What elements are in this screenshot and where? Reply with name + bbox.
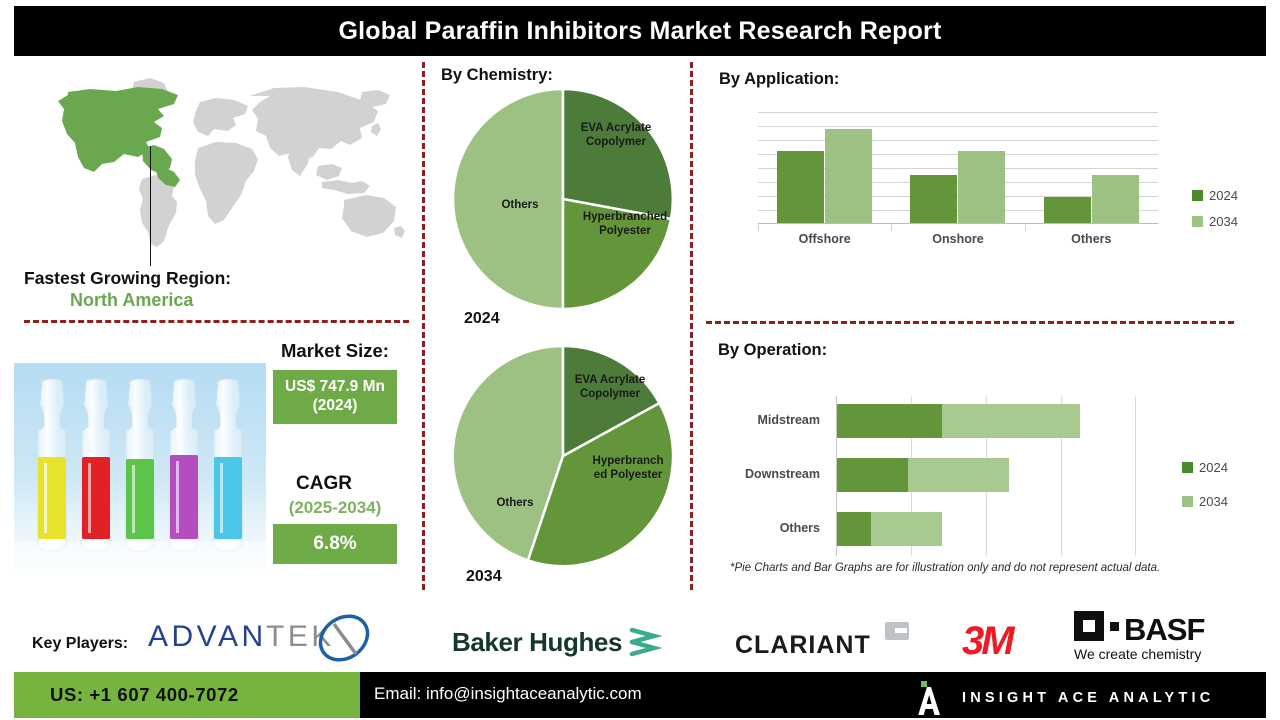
footer-brand: INSIGHT ACE ANALYTIC	[918, 681, 1214, 715]
bar-others-2034	[1092, 175, 1139, 223]
legend-item-2034: 2034	[1192, 214, 1238, 229]
divider-horizontal-right	[706, 321, 1234, 324]
bar-others-2024	[1044, 197, 1091, 223]
legend-item-2024: 2024	[1192, 188, 1238, 203]
footer-phone-banner: US: +1 607 400-7072	[14, 672, 360, 718]
cagr-value: 6.8%	[273, 524, 397, 564]
hbar-others-2024	[837, 512, 871, 546]
bar-group-onshore	[891, 112, 1024, 223]
pie-2034-year: 2034	[466, 568, 502, 586]
pie-2024-label-others: Others	[492, 198, 548, 212]
header-bar: Global Paraffin Inhibitors Market Resear…	[14, 6, 1266, 56]
legend-swatch-2034	[1192, 216, 1203, 227]
svg-text:ADVAN: ADVAN	[148, 620, 267, 653]
legend-label-2034: 2034	[1199, 494, 1228, 509]
hbar-others-2034	[871, 512, 942, 546]
baker-hughes-logo: Baker Hughes	[452, 622, 692, 660]
application-section-title: By Application:	[719, 70, 839, 89]
pie-2034-label-others: Others	[487, 496, 543, 510]
application-label-offshore: Offshore	[758, 232, 891, 246]
page-title: Global Paraffin Inhibitors Market Resear…	[339, 17, 942, 46]
bar-offshore-2034	[825, 129, 872, 223]
3m-logo: 3M	[962, 618, 1034, 662]
market-size-label: Market Size:	[281, 340, 389, 362]
footer-email: Email: info@insightaceanalytic.com	[374, 684, 642, 704]
hbar-midstream-2034	[942, 404, 1080, 438]
application-legend: 2024 2034	[1192, 188, 1238, 229]
legend-label-2024: 2024	[1209, 188, 1238, 203]
pie-2034-label-hyperbranched: Hyperbranch ed Polyester	[578, 454, 678, 483]
legend-item-2034: 2034	[1182, 494, 1228, 509]
chemical-ampoules-image	[14, 363, 266, 576]
legend-swatch-2024	[1182, 462, 1193, 473]
clariant-logo: CLARIANT	[735, 620, 925, 662]
operation-legend: 2024 2034	[1182, 460, 1228, 509]
application-category-labels: Offshore Onshore Others	[758, 232, 1158, 246]
hbar-midstream-2024	[837, 404, 942, 438]
pie-2024-year: 2024	[464, 310, 500, 328]
pie-2034-label-eva: EVA Acrylate Copolymer	[560, 373, 660, 402]
bar-onshore-2024	[910, 175, 957, 223]
market-size-value: US$ 747.9 Mn (2024)	[273, 370, 397, 424]
bar-group-offshore	[758, 112, 891, 223]
svg-text:CLARIANT: CLARIANT	[735, 631, 871, 659]
legend-swatch-2024	[1192, 190, 1203, 201]
hbar-row-others	[837, 512, 1107, 546]
insight-ace-mark-icon	[918, 681, 948, 715]
pie-2024-label-eva: EVA Acrylate Copolymer	[566, 121, 666, 150]
basf-logo: BASF We create chemistry	[1074, 607, 1262, 663]
operation-section-title: By Operation:	[718, 341, 827, 360]
fastest-growing-region-label: Fastest Growing Region:	[24, 268, 231, 289]
legend-label-2034: 2034	[1209, 214, 1238, 229]
svg-text:Baker Hughes: Baker Hughes	[452, 627, 622, 657]
svg-text:3M: 3M	[962, 619, 1016, 662]
footer-brand-text: INSIGHT ACE ANALYTIC	[962, 690, 1214, 706]
map-pointer-line	[150, 146, 151, 266]
world-map-icon	[22, 74, 417, 264]
cagr-period: (2025-2034)	[272, 498, 398, 518]
chart-disclaimer-note: *Pie Charts and Bar Graphs are for illus…	[730, 562, 1160, 574]
bar-offshore-2024	[777, 151, 824, 223]
footer-phone: US: +1 607 400-7072	[50, 684, 239, 706]
pie-2024-label-hyperbranched: Hyperbranched Polyester	[566, 210, 684, 239]
infographic-page: Global Paraffin Inhibitors Market Resear…	[0, 0, 1280, 720]
advantek-logo: ADVAN TEK	[148, 612, 398, 664]
key-players-label: Key Players:	[32, 635, 128, 653]
bar-group-others	[1025, 112, 1158, 223]
hbar-row-midstream	[837, 404, 1107, 438]
svg-text:TEK: TEK	[266, 620, 335, 653]
bar-onshore-2034	[958, 151, 1005, 223]
operation-category-labels: Midstream Downstream Others	[700, 396, 830, 556]
application-bar-chart-plot	[758, 112, 1158, 224]
divider-vertical-right	[690, 62, 693, 590]
svg-text:We create chemistry: We create chemistry	[1074, 646, 1201, 662]
hbar-downstream-2034	[908, 458, 1009, 492]
hbar-downstream-2024	[837, 458, 908, 492]
legend-item-2024: 2024	[1182, 460, 1228, 475]
operation-label-downstream: Downstream	[745, 467, 820, 481]
legend-swatch-2034	[1182, 496, 1193, 507]
chemistry-section-title: By Chemistry:	[441, 66, 553, 85]
divider-horizontal-left	[24, 320, 409, 323]
operation-label-midstream: Midstream	[757, 413, 820, 427]
cagr-label: CAGR	[296, 473, 352, 495]
operation-label-others: Others	[780, 521, 820, 535]
operation-bar-chart-plot	[836, 396, 1136, 556]
hbar-row-downstream	[837, 458, 1107, 492]
divider-vertical-left	[422, 62, 425, 590]
svg-text:BASF: BASF	[1124, 612, 1204, 647]
fastest-growing-region-value: North America	[70, 290, 193, 311]
legend-label-2024: 2024	[1199, 460, 1228, 475]
application-label-onshore: Onshore	[891, 232, 1024, 246]
application-label-others: Others	[1025, 232, 1158, 246]
